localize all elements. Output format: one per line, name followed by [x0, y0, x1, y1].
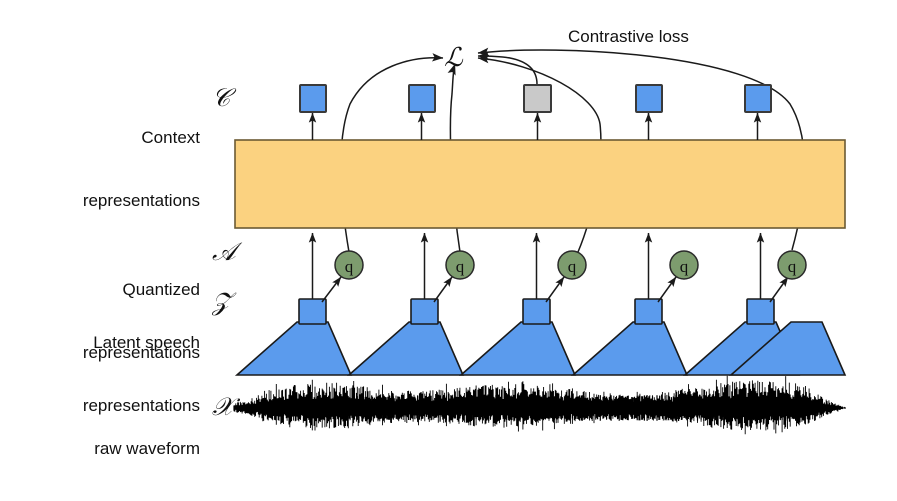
waveform-core: [234, 395, 845, 421]
quantizer-group: q q q q q: [335, 251, 806, 279]
masked-context-to-loss-curve: [478, 56, 537, 84]
cnn-encoder-group: [237, 322, 845, 375]
latent-to-quantizer-arrows: [322, 277, 788, 302]
context-box: [409, 85, 435, 112]
arrow-diagonal: [658, 277, 676, 302]
context-box: [636, 85, 662, 112]
context-box: [745, 85, 771, 112]
latent-box: [411, 299, 438, 324]
quantizer-token: q: [568, 257, 577, 276]
context-representation-group: [300, 85, 771, 112]
context-box-masked: [524, 85, 551, 112]
quantizer-token: q: [680, 257, 689, 276]
curve-masked-to-loss: [478, 56, 537, 84]
latent-box: [635, 299, 662, 324]
context-box: [300, 85, 326, 112]
wav2vec2-architecture-figure: Context representations 𝒞 Quantized repr…: [0, 0, 897, 465]
quantizer-token: q: [456, 257, 465, 276]
latent-representation-group: [299, 299, 774, 324]
latent-box: [747, 299, 774, 324]
raw-waveform: [234, 376, 845, 435]
quantizer-token: q: [788, 257, 797, 276]
latent-box: [299, 299, 326, 324]
transformer-block: [235, 140, 845, 228]
latent-box: [523, 299, 550, 324]
cnn-block: [573, 322, 687, 375]
cnn-block: [461, 322, 575, 375]
cnn-block: [349, 322, 463, 375]
arrow-diagonal: [434, 277, 452, 302]
arrow-diagonal: [322, 277, 341, 302]
architecture-svg: q q q q q: [0, 0, 897, 465]
transformer-to-context-arrows: [313, 113, 758, 140]
cnn-block: [237, 322, 351, 375]
arrow-diagonal: [546, 277, 564, 302]
quantizer-token: q: [345, 257, 354, 276]
arrow-diagonal: [770, 277, 788, 302]
